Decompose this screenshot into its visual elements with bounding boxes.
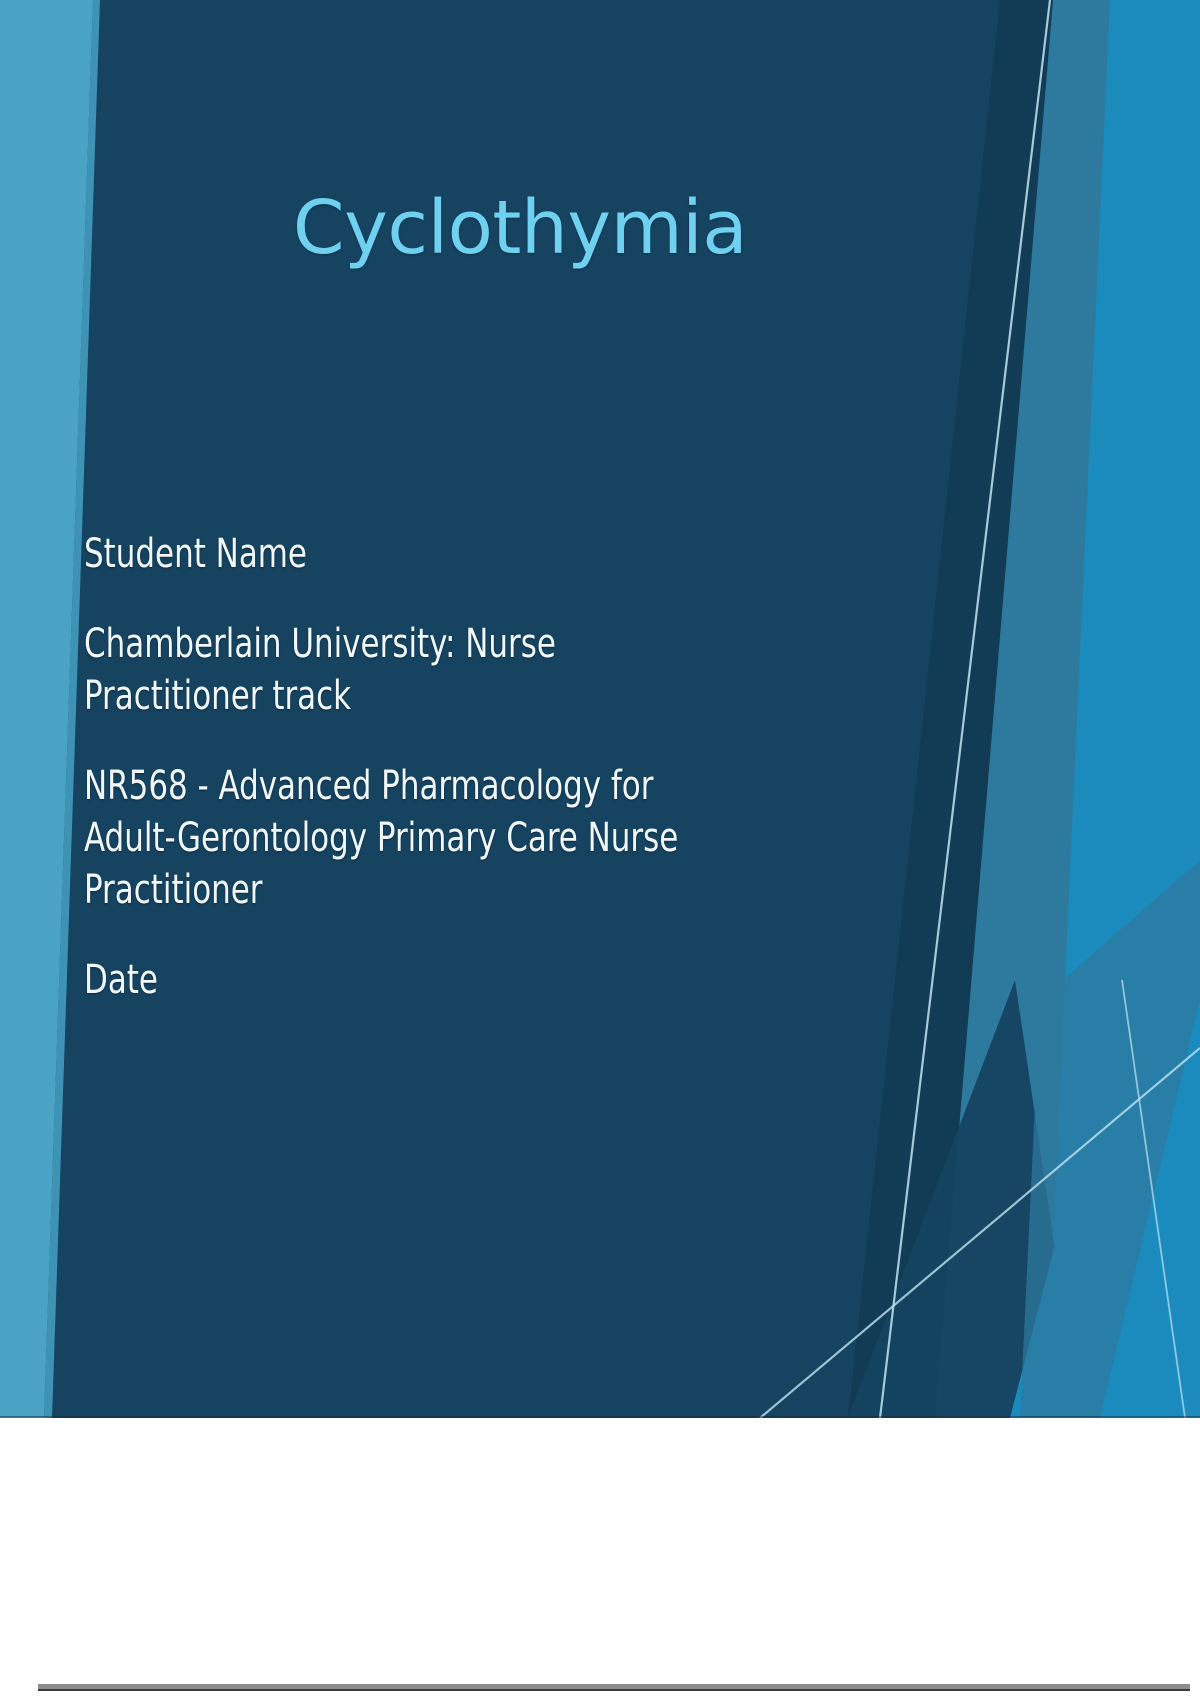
document-page: Cyclothymia Student Name Chamberlain Uni… [0, 0, 1200, 1700]
slide-subtitle-block: Student Name Chamberlain University: Nur… [84, 528, 844, 1006]
subtitle-line-course: NR568 - Advanced Pharmacology for Adult-… [84, 760, 738, 916]
slide-text-layer: Cyclothymia Student Name Chamberlain Uni… [0, 0, 1200, 1418]
subtitle-line-university: Chamberlain University: Nurse Practition… [84, 618, 738, 722]
subtitle-line-date: Date [84, 954, 738, 1006]
subtitle-line-student-name: Student Name [84, 528, 738, 580]
next-slide-top-rule [38, 1684, 1190, 1691]
page-whitespace [0, 1418, 1200, 1700]
presentation-slide: Cyclothymia Student Name Chamberlain Uni… [0, 0, 1200, 1418]
slide-title: Cyclothymia [120, 190, 920, 268]
